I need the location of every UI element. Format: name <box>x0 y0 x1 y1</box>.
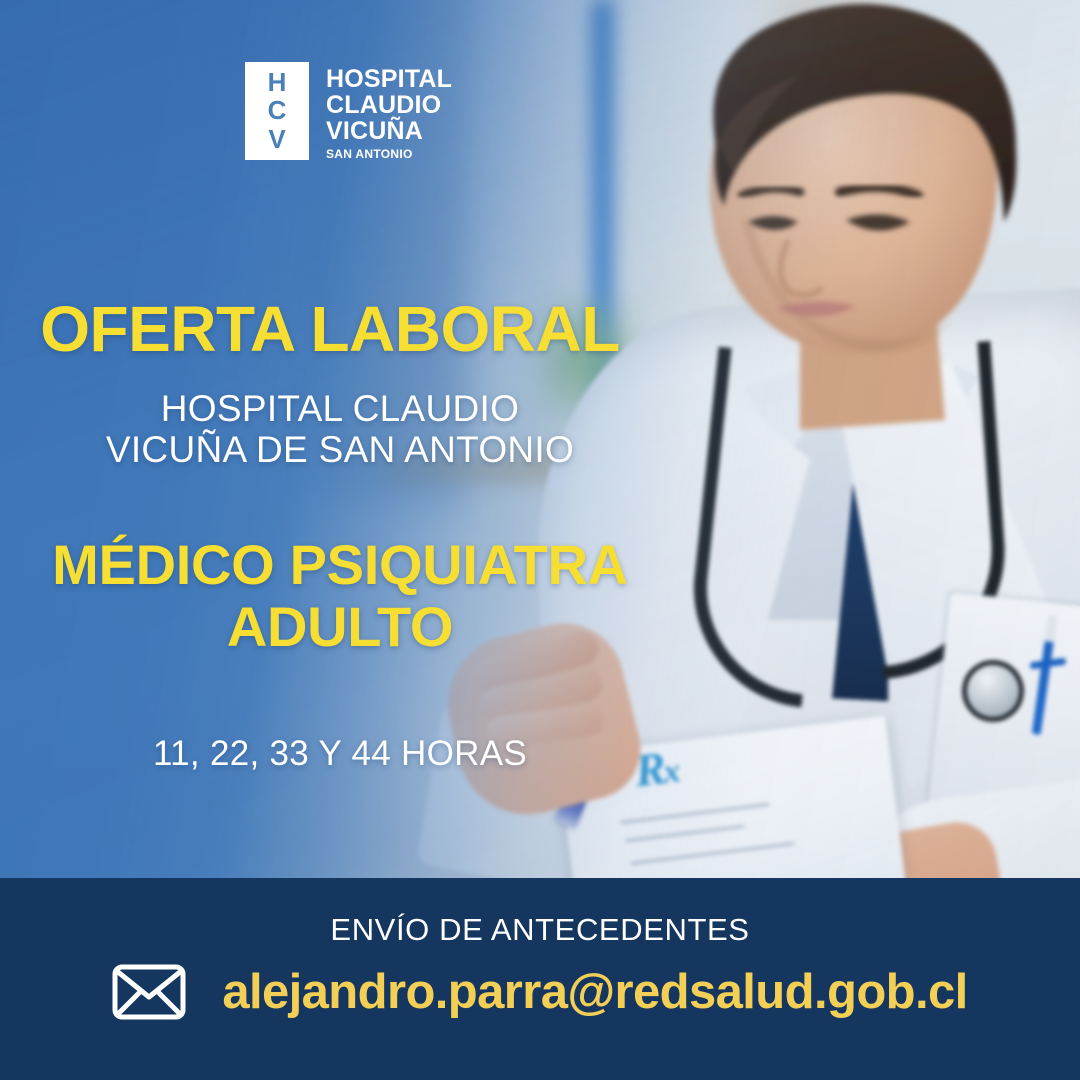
logo-mark-hcv: H C V <box>245 62 309 160</box>
logo-letter-v: V <box>268 126 285 153</box>
working-hours: 11, 22, 33 Y 44 HORAS <box>0 734 680 774</box>
contact-footer: ENVÍO DE ANTECEDENTES alejandro.parra@re… <box>0 878 1080 1080</box>
hospital-logo: H C V HOSPITAL CLAUDIO VICUÑA SAN ANTONI… <box>245 62 452 161</box>
position-title: MÉDICO PSIQUIATRA ADULTO <box>0 534 680 657</box>
position-line-2: ADULTO <box>0 596 680 658</box>
logo-letter-c: C <box>268 97 287 124</box>
headline-oferta-laboral: OFERTA LABORAL <box>0 292 660 366</box>
envelope-icon <box>112 964 186 1020</box>
position-line-1: MÉDICO PSIQUIATRA <box>0 534 680 596</box>
logo-line-claudio: CLAUDIO <box>326 92 452 118</box>
subtitle-line-2: VICUÑA DE SAN ANTONIO <box>0 429 680 470</box>
subtitle-line-1: HOSPITAL CLAUDIO <box>0 388 680 429</box>
poster-canvas: Rx H C V HOSPITAL CLAUDIO VICUÑA SAN ANT… <box>0 0 1080 1080</box>
contact-email[interactable]: alejandro.parra@redsalud.gob.cl <box>222 964 967 1020</box>
logo-line-locality: SAN ANTONIO <box>326 147 452 161</box>
logo-line-hospital: HOSPITAL <box>326 66 452 92</box>
logo-line-vicuna: VICUÑA <box>326 118 452 144</box>
logo-wordmark: HOSPITAL CLAUDIO VICUÑA SAN ANTONIO <box>326 62 452 161</box>
poster-content: H C V HOSPITAL CLAUDIO VICUÑA SAN ANTONI… <box>0 0 1080 1080</box>
footer-title: ENVÍO DE ANTECEDENTES <box>0 912 1080 948</box>
logo-letter-h: H <box>268 69 287 96</box>
subtitle-hospital: HOSPITAL CLAUDIO VICUÑA DE SAN ANTONIO <box>0 388 680 471</box>
footer-contact-row: alejandro.parra@redsalud.gob.cl <box>0 964 1080 1020</box>
